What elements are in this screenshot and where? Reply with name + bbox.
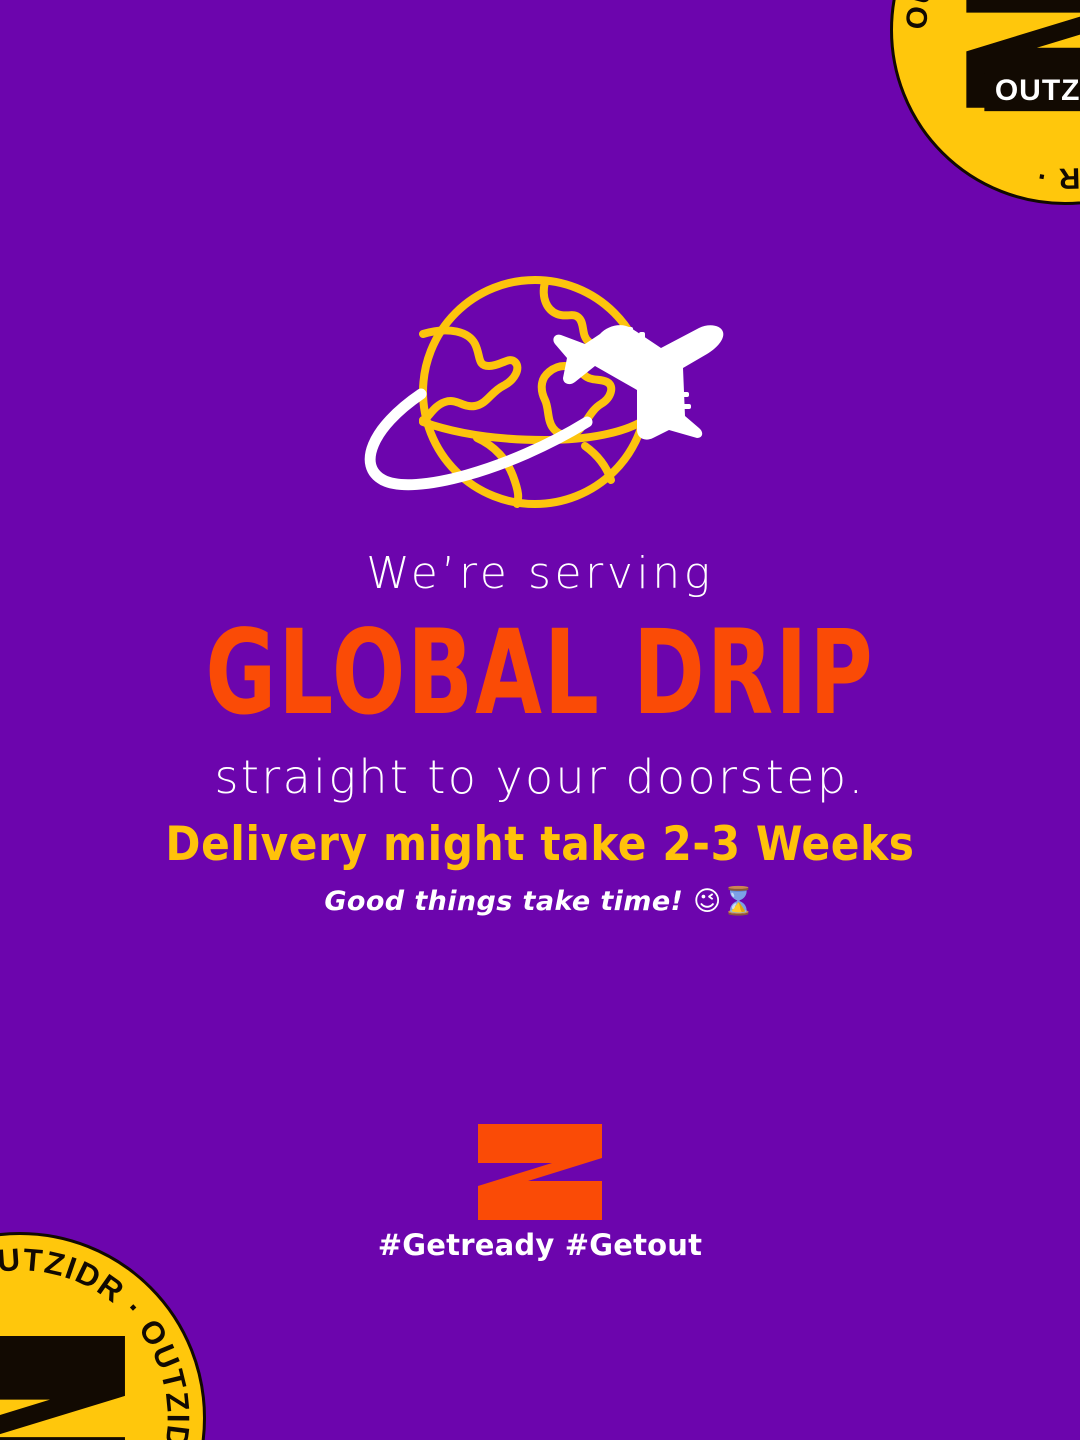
outzidr-stamp-bottom-left: OUTZIDR · OUTZIDR · OUTZIDR · OUTZIDR · … [0, 1232, 206, 1440]
stamp-core-bottom-left: OUTZIDR [0, 1332, 133, 1440]
stamp-center-word: OUTZIDR [985, 73, 1080, 111]
delivery-notice: Delivery might take 2-3 Weeks Good thing… [0, 820, 1080, 917]
outzidr-z-logo-icon [478, 1124, 602, 1220]
headline-line-1: We’re serving [0, 552, 1080, 596]
delivery-headline: Delivery might take 2-3 Weeks [0, 820, 1080, 869]
delivery-subtext-label: Good things take time! [324, 886, 683, 917]
z-logo-icon [0, 1332, 133, 1440]
outzidr-stamp-top-right: OUTZIDR · OUTZIDR · OUTZIDR · OUTZIDR · … [890, 0, 1080, 205]
wink-hourglass-emoji: 😉⌛ [693, 886, 756, 917]
globe-airplane-icon [349, 270, 732, 522]
stamp-core-top-right: OUTZIDR [958, 0, 1080, 111]
delivery-subtext: Good things take time! 😉⌛ [0, 885, 1080, 917]
headline-line-3: straight to your doorstep. [0, 754, 1080, 800]
headline-line-2: GLOBAL DRIP [0, 614, 1080, 731]
promo-poster: OUTZIDR · OUTZIDR · OUTZIDR · OUTZIDR · … [0, 0, 1080, 1440]
headline-block: We’re serving GLOBAL DRIP straight to yo… [0, 552, 1080, 800]
